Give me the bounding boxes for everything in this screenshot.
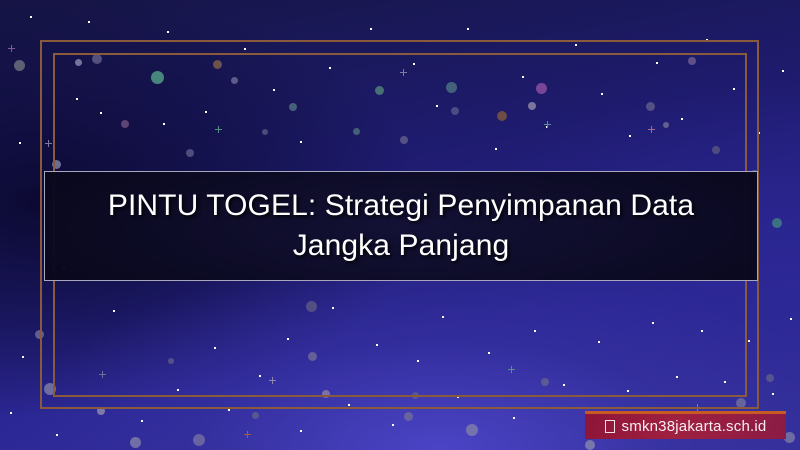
site-url-text: smkn38jakarta.sch.id	[622, 418, 767, 435]
title-band: PINTU TOGEL: Strategi Penyimpanan Data J…	[44, 171, 758, 281]
banner-image: PINTU TOGEL: Strategi Penyimpanan Data J…	[0, 0, 800, 450]
missing-glyph-box-icon	[605, 420, 615, 433]
site-url-badge[interactable]: smkn38jakarta.sch.id	[585, 411, 786, 439]
banner-title: PINTU TOGEL: Strategi Penyimpanan Data J…	[59, 186, 743, 266]
